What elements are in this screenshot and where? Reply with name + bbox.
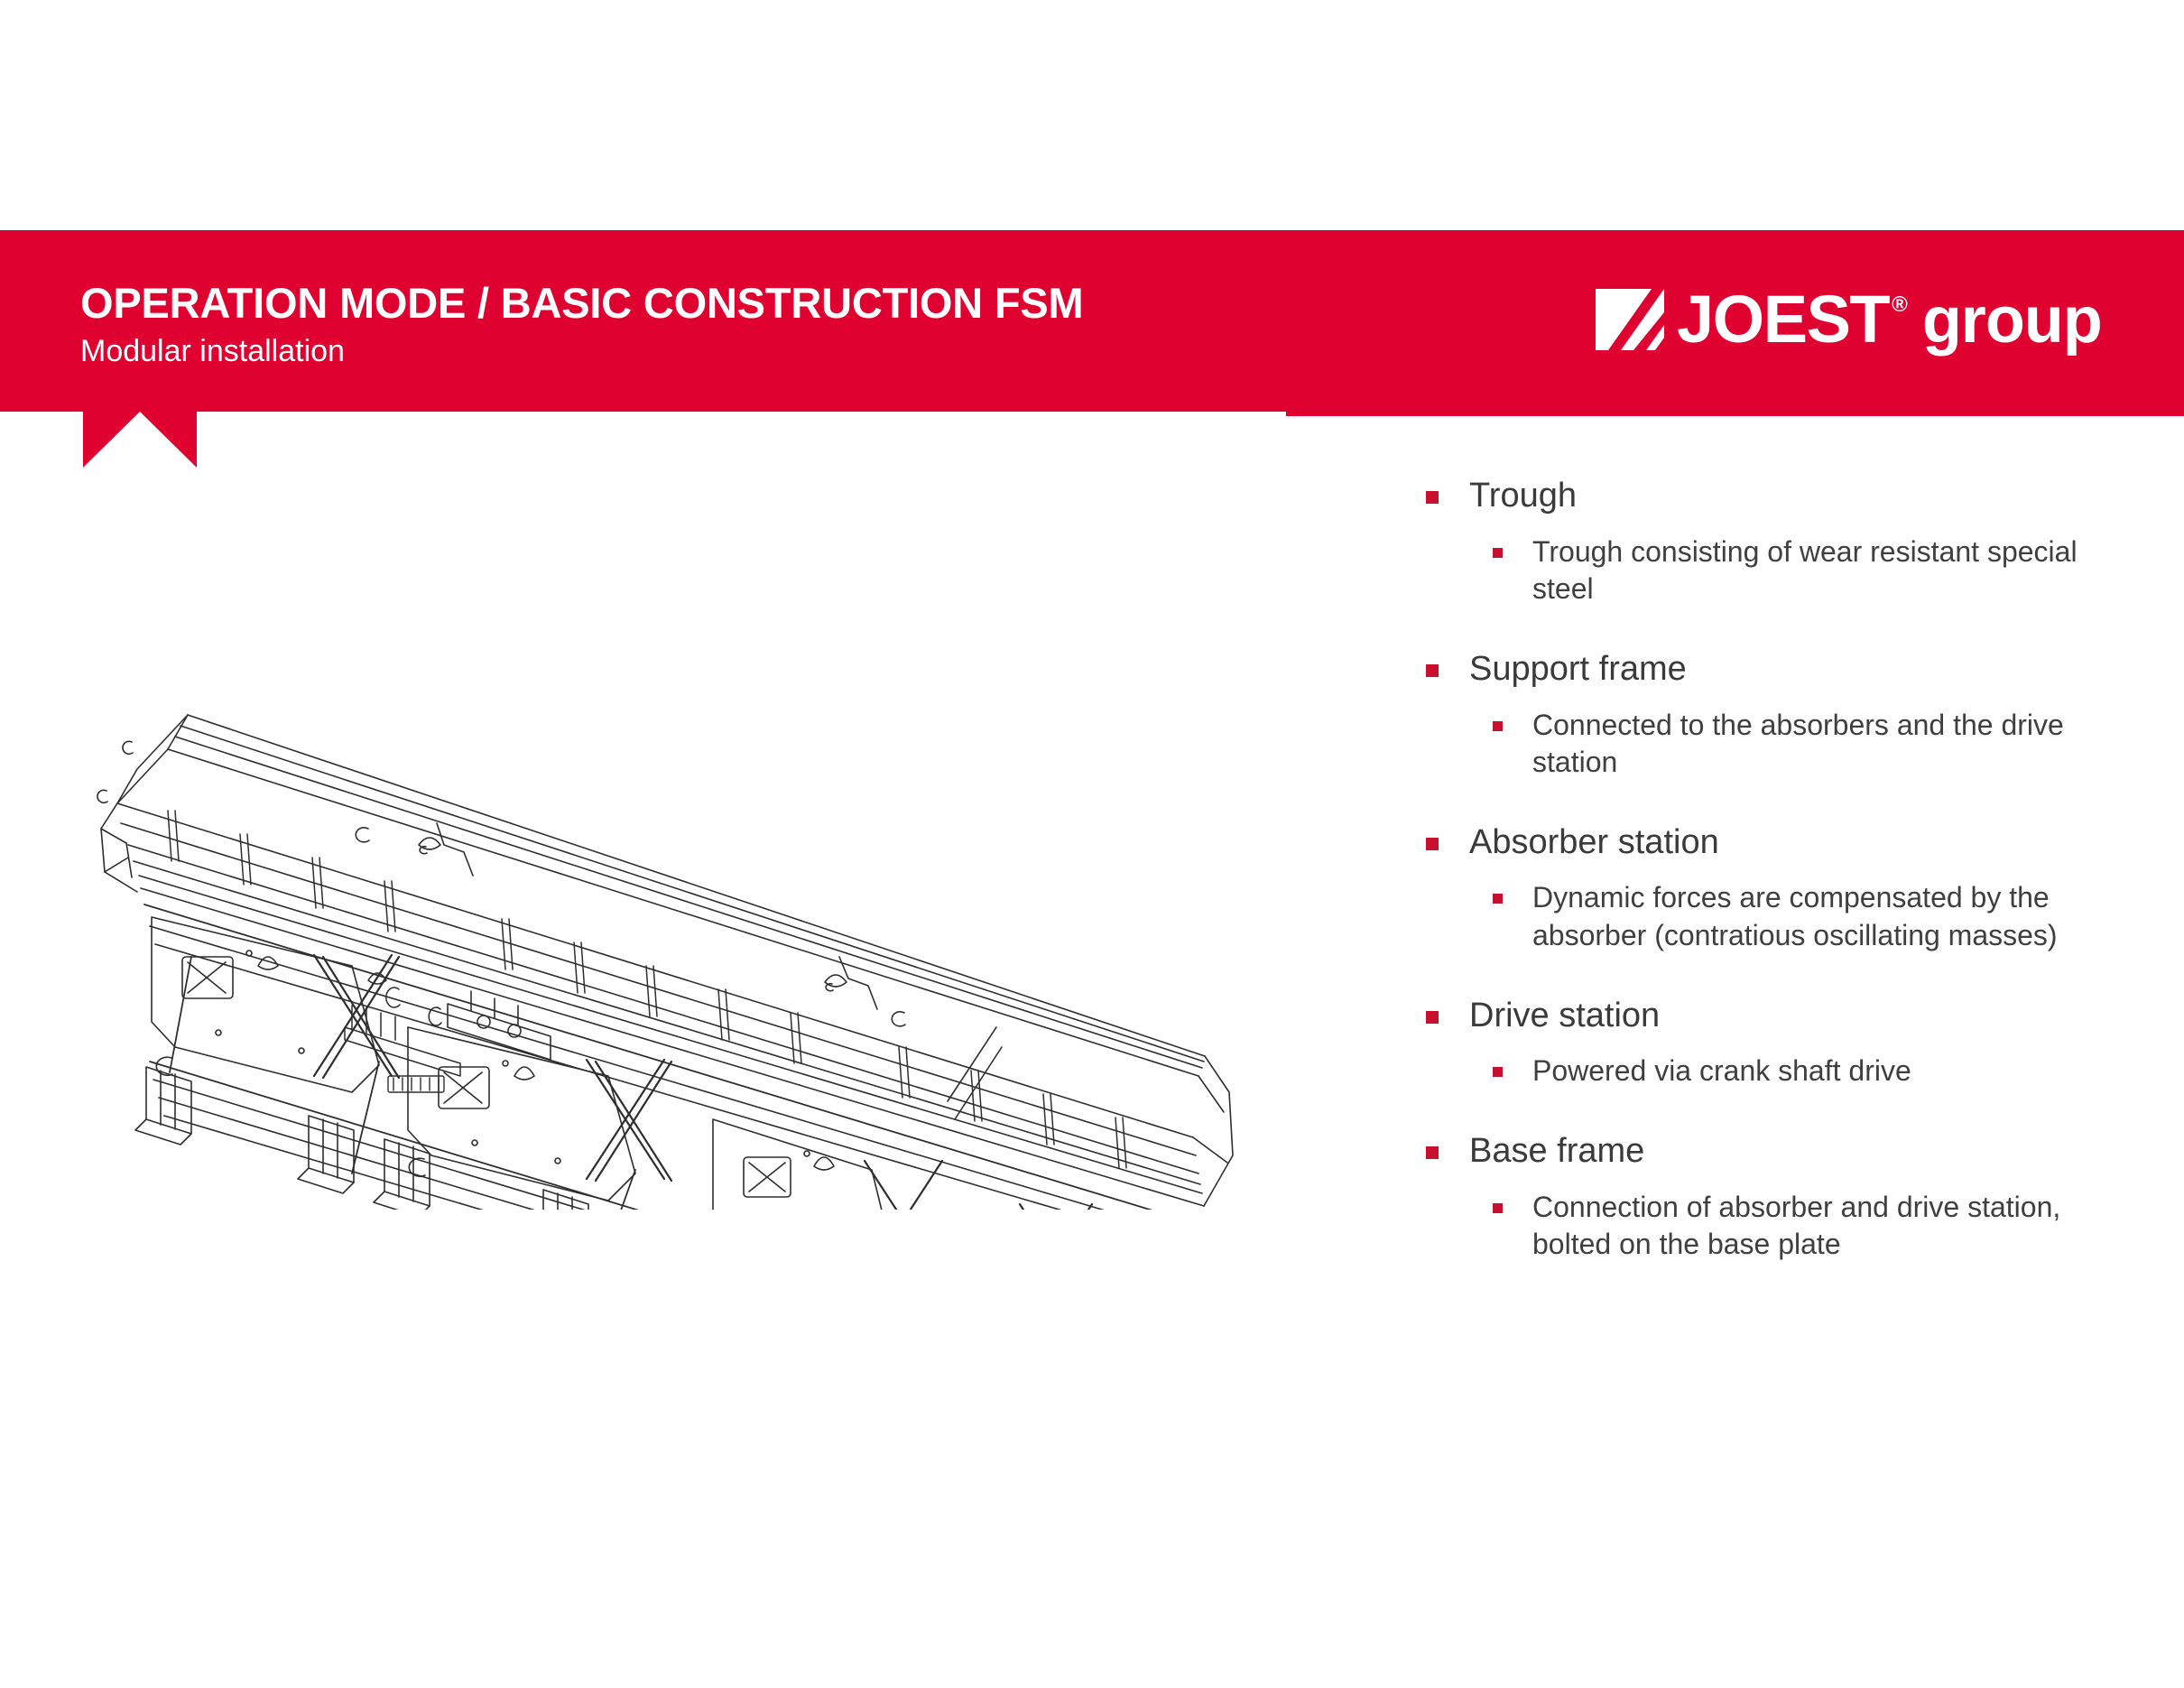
bullet-marker-icon (1426, 1011, 1439, 1024)
header-notch-pointer (83, 412, 197, 468)
bullet-level1: Drive station (1426, 997, 2175, 1036)
bullet-level1-label: Support frame (1469, 650, 1687, 690)
bullet-level1: Trough (1426, 477, 2175, 516)
bullet-level1: Base frame (1426, 1132, 2175, 1172)
bullet-group-trough: Trough Trough consisting of wear resista… (1426, 477, 2175, 608)
bullet-marker-icon (1426, 1146, 1439, 1159)
bullet-group-absorber-station: Absorber station Dynamic forces are comp… (1426, 823, 2175, 955)
bullet-level2-label: Trough consisting of wear resistant spec… (1532, 533, 2137, 608)
logo-wordmark: JOEST ® group (1677, 286, 2102, 353)
page-title: OPERATION MODE / BASIC CONSTRUCTION FSM (80, 282, 1084, 324)
fsm-machine-drawing-svg (81, 668, 1272, 1210)
bullet-level1-label: Trough (1469, 477, 1577, 516)
bullet-level2-label: Powered via crank shaft drive (1532, 1053, 1911, 1090)
logo-registered-mark: ® (1892, 294, 1908, 316)
sub-bullet-marker-icon (1493, 721, 1503, 731)
bullet-level2: Connection of absorber and drive station… (1426, 1189, 2175, 1264)
bullet-marker-icon (1426, 491, 1439, 504)
bullet-level2-label: Connection of absorber and drive station… (1532, 1189, 2137, 1264)
bullet-level2: Trough consisting of wear resistant spec… (1426, 533, 2175, 608)
bullet-level2: Connected to the absorbers and the drive… (1426, 707, 2175, 782)
bullet-level1: Support frame (1426, 650, 2175, 690)
bullet-level2-label: Connected to the absorbers and the drive… (1532, 707, 2137, 782)
sub-bullet-marker-icon (1493, 894, 1503, 904)
joest-group-logo: JOEST ® group (1596, 280, 2102, 359)
bullet-level1-label: Base frame (1469, 1132, 1644, 1172)
feature-bullet-list: Trough Trough consisting of wear resista… (1426, 477, 2175, 1264)
bullet-group-drive-station: Drive station Powered via crank shaft dr… (1426, 997, 2175, 1090)
bullet-level2-label: Dynamic forces are compensated by the ab… (1532, 879, 2137, 954)
bullet-level2: Dynamic forces are compensated by the ab… (1426, 879, 2175, 954)
sub-bullet-marker-icon (1493, 1067, 1503, 1077)
slide: OPERATION MODE / BASIC CONSTRUCTION FSM … (0, 0, 2184, 1688)
bullet-marker-icon (1426, 664, 1439, 677)
logo-group-text: group (1922, 288, 2102, 353)
sub-bullet-marker-icon (1493, 1203, 1503, 1213)
bullet-level1-label: Absorber station (1469, 823, 1719, 863)
logo-joest-text: JOEST (1677, 286, 1889, 353)
sub-bullet-marker-icon (1493, 548, 1503, 558)
bullet-level1-label: Drive station (1469, 997, 1660, 1036)
joest-parallelogram-mark-icon (1596, 289, 1664, 350)
bullet-group-base-frame: Base frame Connection of absorber and dr… (1426, 1132, 2175, 1264)
page-subtitle: Modular installation (80, 336, 345, 366)
bullet-group-support-frame: Support frame Connected to the absorbers… (1426, 650, 2175, 782)
bullet-level1: Absorber station (1426, 823, 2175, 863)
bullet-level2: Powered via crank shaft drive (1426, 1053, 2175, 1090)
bullet-marker-icon (1426, 838, 1439, 850)
fsm-machine-drawing (81, 668, 1272, 1210)
